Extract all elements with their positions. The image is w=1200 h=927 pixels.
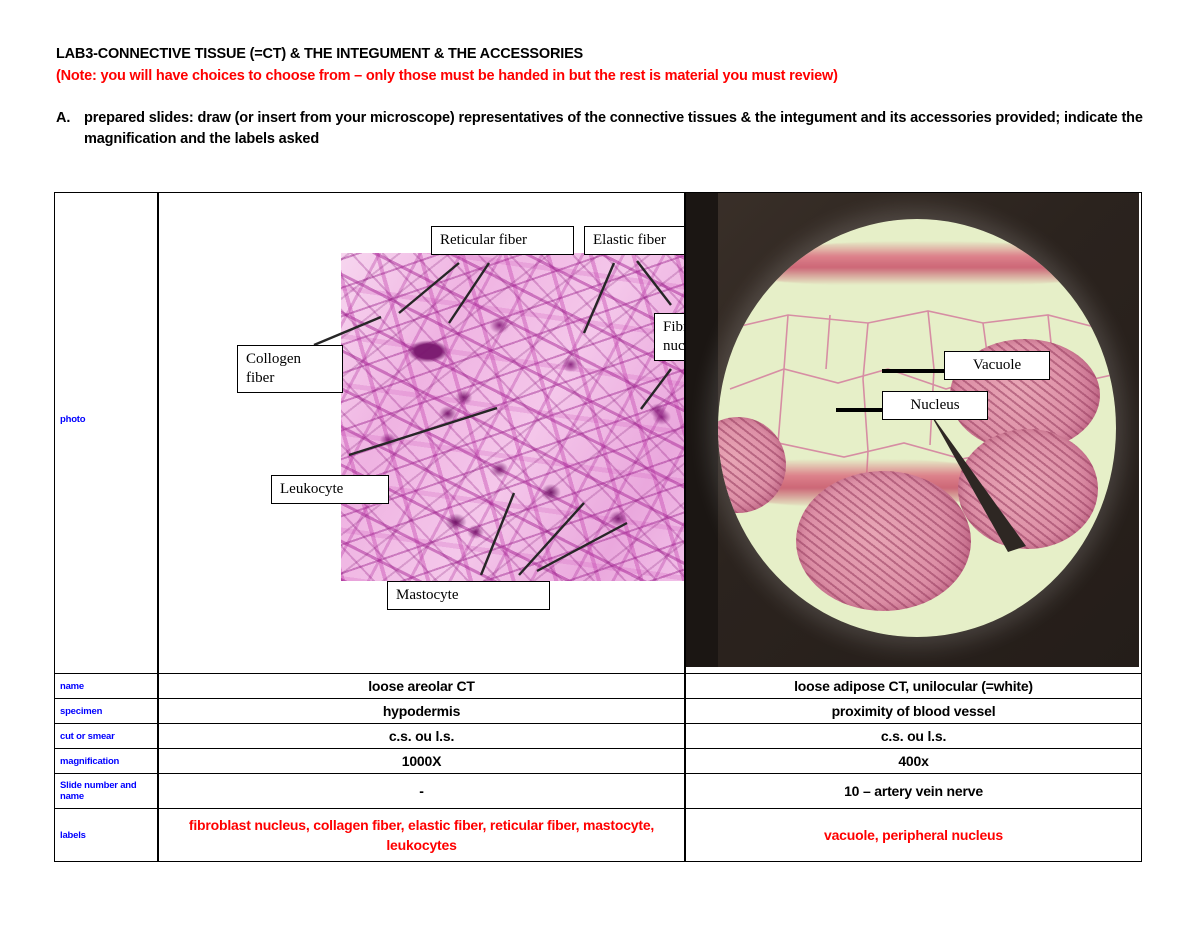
cell-cut-or-smear-right: c.s. ou l.s. (685, 724, 1142, 749)
callout-mastocyte: Mastocyte (387, 581, 550, 610)
left-photo-wrap: Reticular fiber Elastic fiber Fibroblast… (159, 193, 684, 667)
row-label-name: name (55, 674, 159, 699)
page-title: LAB3-CONNECTIVE TISSUE (=CT) & THE INTEG… (56, 44, 1146, 64)
table-row-photo: photo (55, 193, 1142, 674)
microscope-field-of-view (718, 219, 1116, 637)
row-label-specimen: specimen (55, 699, 159, 724)
left-micrograph-image (341, 253, 684, 581)
table-row-labels: labels fibroblast nucleus, collagen fibe… (55, 809, 1142, 862)
cell-labels-right: vacuole, peripheral nucleus (685, 809, 1142, 862)
right-photo-wrap: Vacuole Nucleus (686, 193, 1141, 667)
cell-specimen-right: proximity of blood vessel (685, 699, 1142, 724)
cell-slide-number-left: - (158, 774, 685, 809)
table-row-specimen: specimen hypodermis proximity of blood v… (55, 699, 1142, 724)
row-label-cut-or-smear: cut or smear (55, 724, 159, 749)
callout-collogen-fiber: Collogen fiber (237, 345, 343, 393)
table-row-slide-number: Slide number and name - 10 – artery vein… (55, 774, 1142, 809)
section-a-text: prepared slides: draw (or insert from yo… (84, 108, 1146, 150)
table-row-magnification: magnification 1000X 400x (55, 749, 1142, 774)
cell-name-left: loose areolar CT (158, 674, 685, 699)
cell-slide-number-right: 10 – artery vein nerve (685, 774, 1142, 809)
cell-name-right: loose adipose CT, unilocular (=white) (685, 674, 1142, 699)
right-micrograph-image (686, 193, 1139, 667)
cell-photo-right: Vacuole Nucleus (685, 193, 1142, 674)
worksheet-table: photo (54, 192, 1142, 862)
callout-reticular-fiber: Reticular fiber (431, 226, 574, 255)
cell-labels-left: fibroblast nucleus, collagen fiber, elas… (158, 809, 685, 862)
row-label-labels: labels (55, 809, 159, 862)
callout-leukocyte: Leukocyte (271, 475, 389, 504)
document-note: (Note: you will have choices to choose f… (56, 66, 1146, 86)
row-label-slide-number: Slide number and name (55, 774, 159, 809)
section-a-marker: A. (56, 108, 84, 150)
section-a: A. prepared slides: draw (or insert from… (56, 108, 1146, 150)
table-row-name: name loose areolar CT loose adipose CT, … (55, 674, 1142, 699)
tissue-band-upper (738, 241, 1108, 285)
callout-elastic-fiber: Elastic fiber (584, 226, 684, 255)
cell-magnification-left: 1000X (158, 749, 685, 774)
document-header: LAB3-CONNECTIVE TISSUE (=CT) & THE INTEG… (56, 44, 1146, 150)
callout-nucleus: Nucleus (882, 391, 988, 420)
cell-photo-left: Reticular fiber Elastic fiber Fibroblast… (158, 193, 685, 674)
callout-vacuole: Vacuole (944, 351, 1050, 380)
callout-fibroblast-nucleus: Fibroblast nucleus (654, 313, 684, 361)
row-label-photo-text: photo (60, 196, 152, 425)
cell-magnification-right: 400x (685, 749, 1142, 774)
cell-cut-or-smear-left: c.s. ou l.s. (158, 724, 685, 749)
cell-specimen-left: hypodermis (158, 699, 685, 724)
row-label-magnification: magnification (55, 749, 159, 774)
microscope-pointer-icon (924, 408, 1034, 553)
microscope-dark-border (686, 193, 718, 667)
table-row-cut-or-smear: cut or smear c.s. ou l.s. c.s. ou l.s. (55, 724, 1142, 749)
row-label-photo: photo (55, 193, 159, 674)
